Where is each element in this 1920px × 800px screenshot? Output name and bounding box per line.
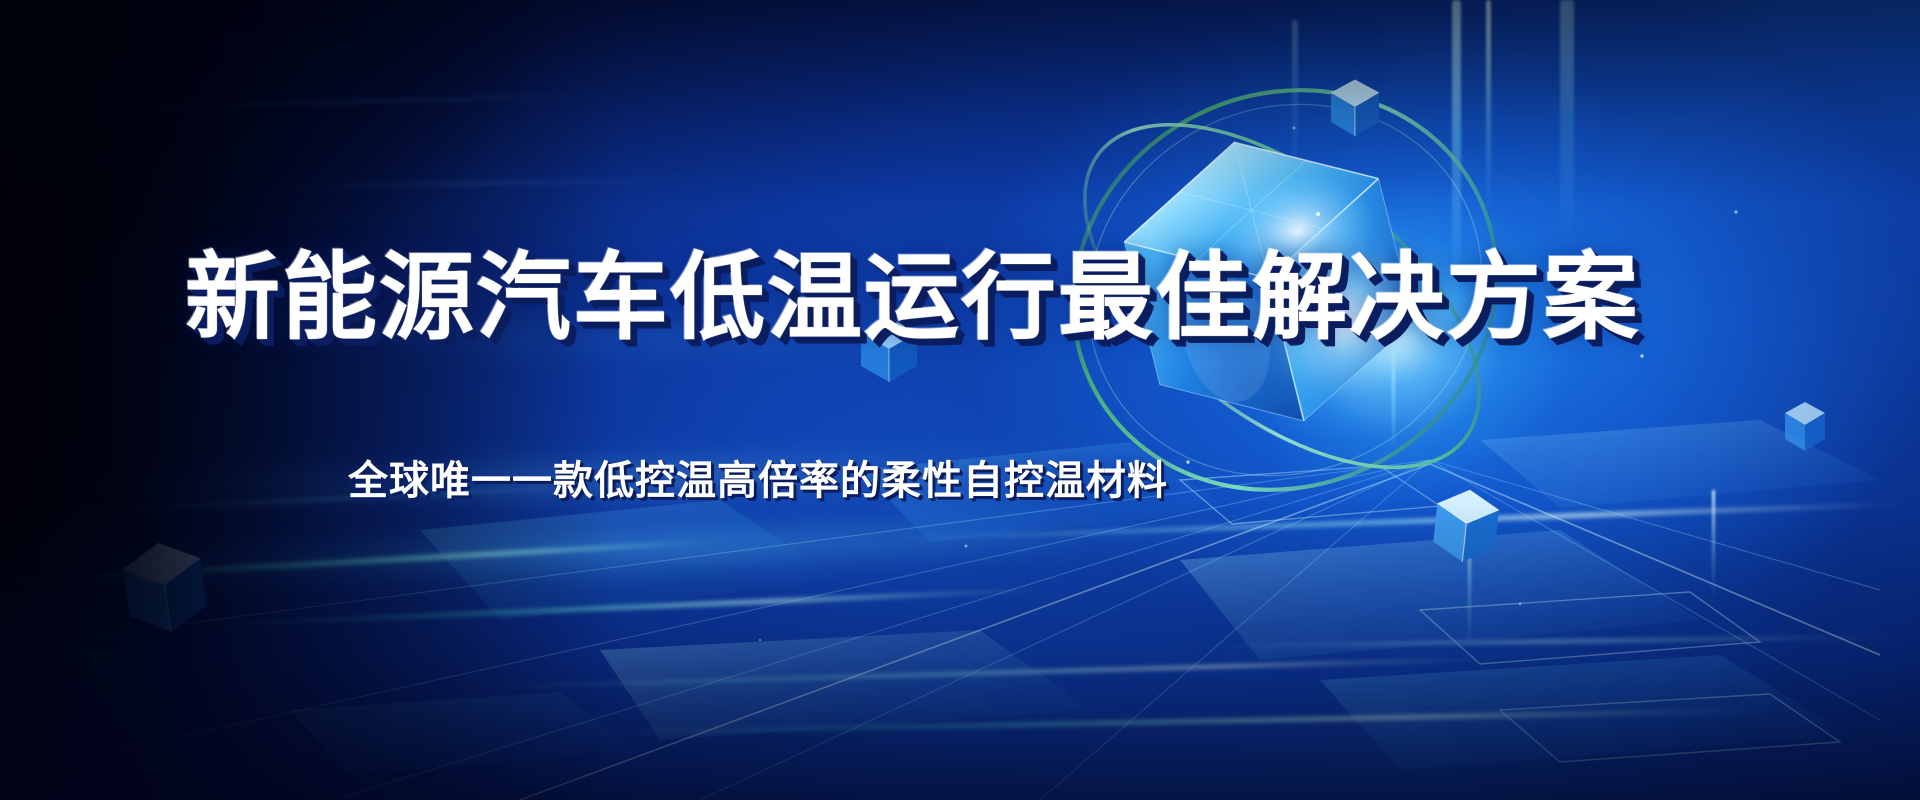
vignette-top [0, 0, 1920, 200]
hero-banner: 新能源汽车低温运行最佳解决方案 全球唯一一款低控温高倍率的柔性自控温材料 [0, 0, 1920, 800]
vignette-bottom [0, 500, 1920, 800]
